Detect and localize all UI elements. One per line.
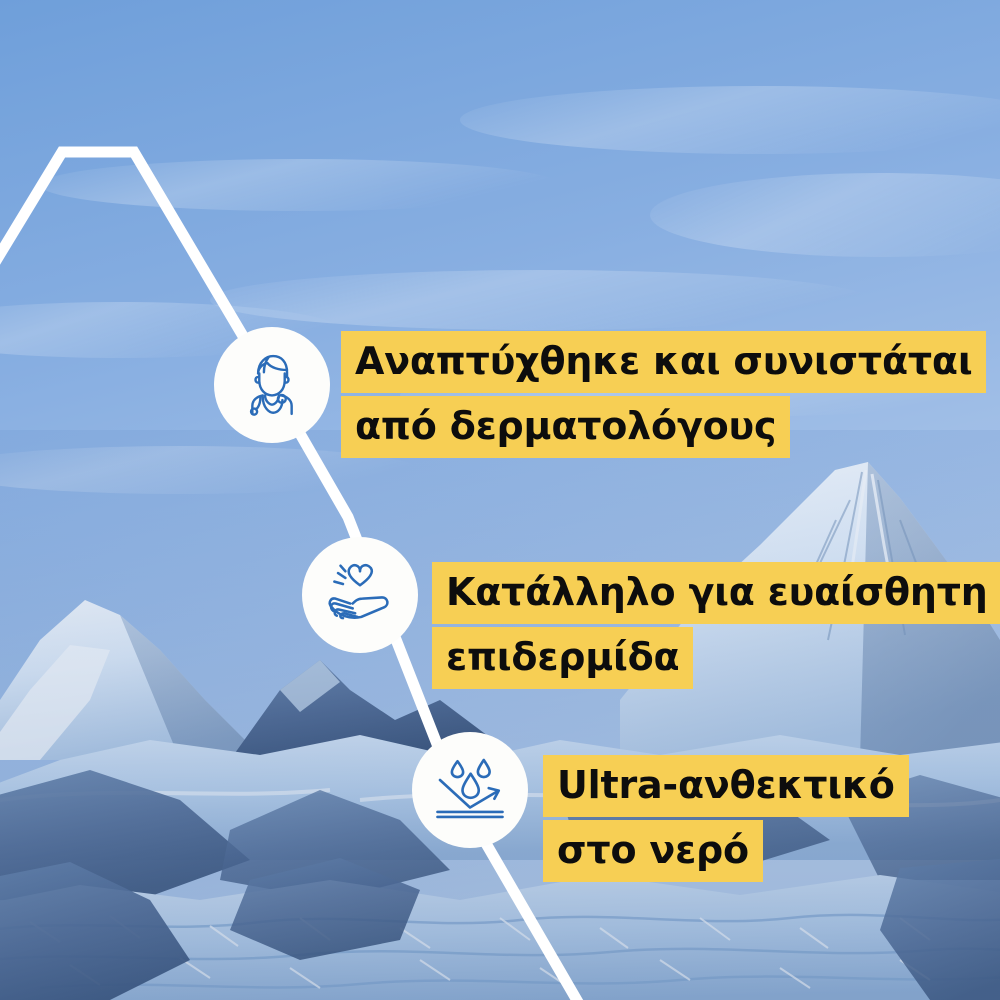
benefit-text-dermatologist: Αναπτύχθηκε και συνιστάται από δερματολό… [341, 331, 986, 458]
badge-line: Ultra-ανθεκτικό [543, 755, 909, 817]
benefit-icon-bubble-water-resistant[interactable] [412, 732, 528, 848]
benefit-icon-bubble-dermatologist[interactable] [214, 327, 330, 443]
water-repellent-droplets-icon [430, 750, 510, 830]
benefit-text-water-resistant: Ultra-ανθεκτικό στο νερό [543, 755, 909, 882]
benefit-text-sensitive-skin: Κατάλληλο για ευαίσθητη επιδερμίδα [432, 562, 1000, 689]
badge-line: από δερματολόγους [341, 396, 986, 458]
infographic-canvas: Αναπτύχθηκε και συνιστάται από δερματολό… [0, 0, 1000, 1000]
benefit-icon-bubble-sensitive-skin[interactable] [302, 537, 418, 653]
doctor-stethoscope-icon [235, 348, 309, 422]
badge-line: επιδερμίδα [432, 627, 1000, 689]
badge-line: στο νερό [543, 820, 909, 882]
badge-line: Αναπτύχθηκε και συνιστάται [341, 331, 986, 393]
hand-holding-heart-icon [321, 556, 399, 634]
badge-line: Κατάλληλο για ευαίσθητη [432, 562, 1000, 624]
